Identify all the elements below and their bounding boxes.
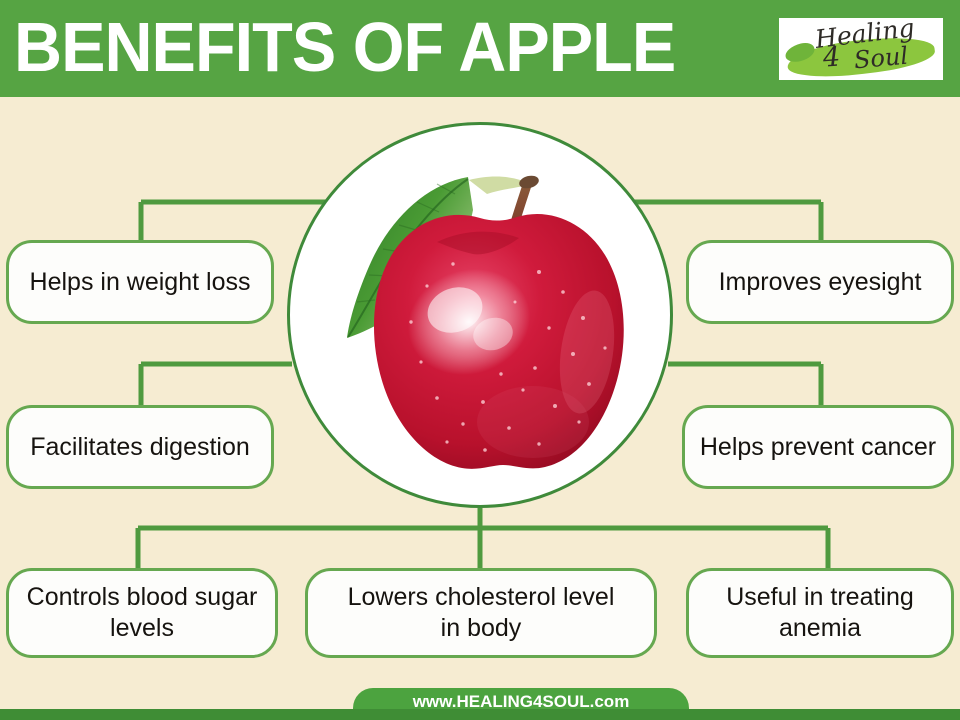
- benefit-label: Helps prevent cancer: [700, 432, 936, 462]
- benefit-label: Lowers cholesterol level in body: [348, 582, 615, 644]
- benefit-label-line2: levels: [110, 614, 174, 642]
- benefit-box-digestion[interactable]: Facilitates digestion: [6, 405, 274, 489]
- benefit-box-cancer[interactable]: Helps prevent cancer: [682, 405, 954, 489]
- benefit-label: Controls blood sugar levels: [27, 582, 258, 644]
- header-bar: BENEFITS OF APPLE Healing 4 Soul: [0, 0, 960, 97]
- footer-url[interactable]: www.HEALING4SOUL.com: [353, 691, 689, 712]
- benefit-label-line2: in body: [441, 614, 522, 642]
- red-apple-with-leaf-image: [287, 122, 673, 508]
- benefit-label-line1: Useful in treating: [726, 583, 914, 611]
- benefit-label: Improves eyesight: [719, 267, 922, 297]
- benefit-label-line1: Controls blood sugar: [27, 583, 258, 611]
- benefit-box-cholesterol[interactable]: Lowers cholesterol level in body: [305, 568, 657, 658]
- benefit-label-line2: anemia: [779, 614, 861, 642]
- apple-body-shape: [374, 214, 624, 469]
- benefit-box-eyesight[interactable]: Improves eyesight: [686, 240, 954, 324]
- logo-word-four: 4: [822, 43, 841, 72]
- benefit-box-weight-loss[interactable]: Helps in weight loss: [6, 240, 274, 324]
- page-title: BENEFITS OF APPLE: [14, 6, 675, 88]
- healing-4-soul-logo[interactable]: Healing 4 Soul: [779, 18, 943, 80]
- benefit-box-blood-sugar[interactable]: Controls blood sugar levels: [6, 568, 278, 658]
- benefit-label: Facilitates digestion: [30, 432, 250, 462]
- benefit-label: Useful in treating anemia: [726, 582, 914, 644]
- benefit-label: Helps in weight loss: [30, 267, 251, 297]
- benefit-label-line1: Lowers cholesterol level: [348, 583, 615, 611]
- logo-word-soul: Soul: [853, 43, 909, 74]
- benefit-box-anemia[interactable]: Useful in treating anemia: [686, 568, 954, 658]
- infographic-canvas: BENEFITS OF APPLE Healing 4 Soul: [0, 0, 960, 720]
